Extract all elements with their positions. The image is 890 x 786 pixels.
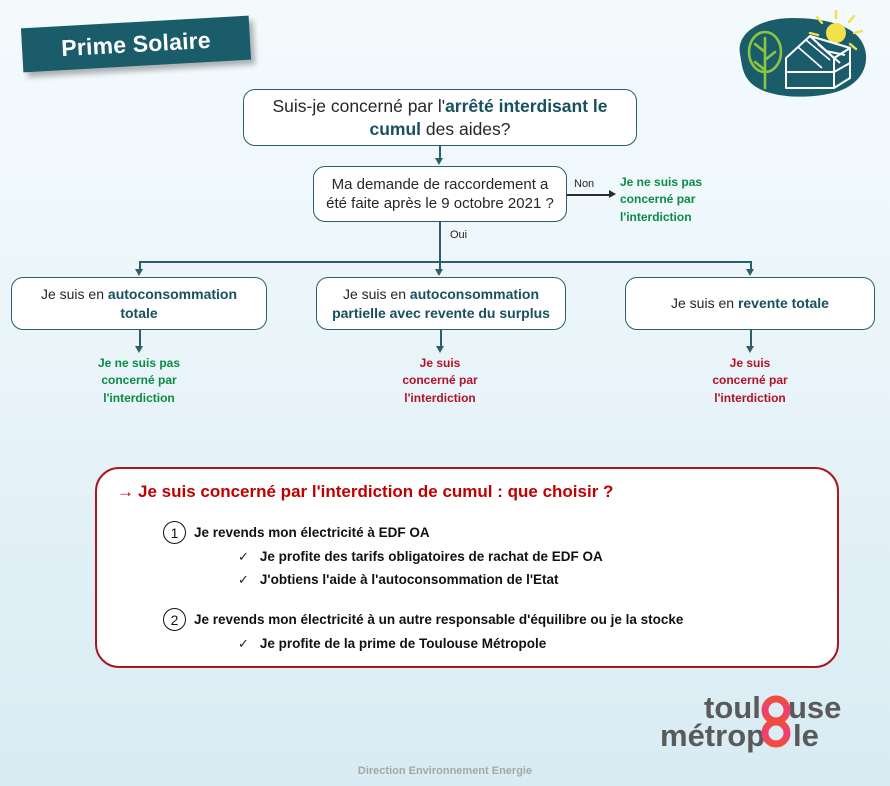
answer-item-2-text: Je revends mon électricité à un autre re…	[194, 608, 683, 629]
q2-line-2: été faite après le 9 octobre 2021 ?	[326, 195, 554, 212]
outcome-option-2: Je suis concerné par l'interdiction	[380, 355, 500, 407]
answer-panel: →Je suis concerné par l'interdiction de …	[95, 467, 839, 668]
answer-panel-heading-text: Je suis concerné par l'interdiction de c…	[138, 482, 613, 501]
outcome-non: Je ne suis pas concerné par l'interdicti…	[620, 174, 740, 226]
answer-subitem-1-1: ✓ Je profite des tarifs obligatoires de …	[238, 549, 603, 565]
connector-non	[567, 194, 610, 196]
question-box-raccordement-text: Ma demande de raccordement a été faite a…	[314, 175, 566, 214]
outcome-option-1: Je ne suis pas concerné par l'interdicti…	[79, 355, 199, 407]
arrow-non	[609, 190, 616, 198]
answer-item-2: 2 Je revends mon électricité à un autre …	[163, 608, 683, 631]
check-icon: ✓	[238, 636, 249, 652]
opt1-prefix: Je suis en	[41, 286, 108, 302]
arrow-to-option-1	[135, 269, 143, 276]
arrow-right-icon: →	[117, 482, 134, 501]
solar-house-tree-sun-icon	[718, 8, 878, 104]
q1-suffix: des aides?	[421, 119, 511, 139]
option-box-revente-totale: Je suis en revente totale	[625, 277, 875, 330]
q2-line-1: Ma demande de raccordement a	[332, 176, 549, 193]
answer-subitem-1-2: ✓ J'obtiens l'aide à l'autoconsommation …	[238, 572, 559, 588]
question-box-cumul-text: Suis-je concerné par l'arrêté interdisan…	[244, 95, 636, 141]
toulouse-metropole-logo: toul use métrop le	[660, 688, 878, 756]
option-box-autoconsommation-partielle: Je suis en autoconsommation partielle av…	[316, 277, 566, 330]
edge-label-non: Non	[574, 178, 594, 190]
arrow-option-1-outcome	[135, 346, 143, 353]
connector-split-horizontal	[139, 261, 751, 263]
svg-text:métrop: métrop	[660, 718, 765, 753]
option-box-3-text: Je suis en revente totale	[659, 294, 841, 312]
option-box-autoconsommation-totale: Je suis en autoconsommation totale	[11, 277, 267, 330]
arrow-option-2-outcome	[436, 346, 444, 353]
opt3-bold: revente totale	[738, 295, 829, 311]
title-banner: Prime Solaire	[21, 16, 251, 73]
check-icon: ✓	[238, 549, 249, 565]
outcome-option-3: Je suis concerné par l'interdiction	[690, 355, 810, 407]
answer-subitem-1-2-text: J'obtiens l'aide à l'autoconsommation de…	[260, 572, 559, 587]
answer-panel-heading: →Je suis concerné par l'interdiction de …	[117, 482, 613, 502]
arrow-option-3-outcome	[746, 346, 754, 353]
page-title: Prime Solaire	[61, 26, 212, 61]
slide-canvas: Prime Solaire	[0, 0, 890, 786]
option-box-1-text: Je suis en autoconsommation totale	[12, 285, 266, 321]
connector-oui	[439, 222, 441, 262]
answer-subitem-2-1-text: Je profite de la prime de Toulouse Métro…	[260, 636, 546, 651]
svg-text:le: le	[793, 718, 819, 753]
circled-number-2: 2	[163, 608, 186, 631]
arrow-to-option-3	[746, 269, 754, 276]
q1-prefix: Suis-je concerné par l'	[272, 96, 445, 116]
question-box-raccordement: Ma demande de raccordement a été faite a…	[313, 166, 567, 222]
answer-item-1-text: Je revends mon électricité à EDF OA	[194, 521, 430, 542]
question-box-cumul: Suis-je concerné par l'arrêté interdisan…	[243, 89, 637, 146]
answer-subitem-2-1: ✓ Je profite de la prime de Toulouse Mét…	[238, 636, 546, 652]
opt3-prefix: Je suis en	[671, 295, 738, 311]
arrow-to-option-2	[435, 269, 443, 276]
edge-label-oui: Oui	[450, 229, 467, 241]
option-box-2-text: Je suis en autoconsommation partielle av…	[317, 285, 565, 321]
arrow-q1-q2	[435, 158, 443, 165]
answer-subitem-1-1-text: Je profite des tarifs obligatoires de ra…	[260, 549, 603, 564]
opt1-bold: autoconsommation totale	[108, 286, 237, 320]
check-icon: ✓	[238, 572, 249, 588]
footer-text: Direction Environnement Energie	[0, 765, 890, 777]
circled-number-1: 1	[163, 521, 186, 544]
opt2-prefix: Je suis en	[343, 286, 410, 302]
answer-item-1: 1 Je revends mon électricité à EDF OA	[163, 521, 430, 544]
